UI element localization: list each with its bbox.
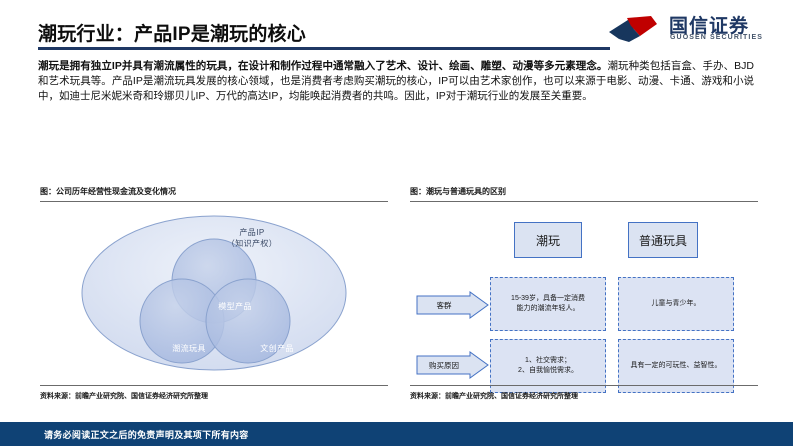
panel-right-rule-bottom	[410, 385, 758, 386]
panel-right-caption: 图：潮玩与普通玩具的区别	[410, 186, 506, 197]
venn-diagram-svg	[40, 203, 388, 383]
guosen-logo-icon	[607, 12, 663, 44]
panel-left-caption: 图：公司历年经营性现金流及变化情况	[40, 186, 176, 197]
cell-normal-audience: 儿童与青少年。	[618, 277, 734, 331]
column-header-trendy-toys: 潮玩	[514, 222, 582, 258]
panel-right-source: 资料来源：前瞻产业研究院、国信证券经济研究所整理	[410, 391, 578, 401]
page-title: 潮玩行业：产品IP是潮玩的核心	[38, 19, 306, 46]
panel-right-rule-top	[410, 201, 758, 202]
panel-left-rule-top	[40, 201, 388, 202]
slide-header: 潮玩行业：产品IP是潮玩的核心 国信证券 GUOSEN SECURITIES	[0, 0, 793, 54]
venn-circle-culture	[206, 279, 290, 363]
panel-trendy-vs-normal-toys: 图：潮玩与普通玩具的区别 潮玩 普通玩具 客群 购买原因 15-39岁，具备一定…	[410, 186, 758, 408]
intro-paragraph: 潮玩是拥有独立IP并具有潮流属性的玩具，在设计和制作过程中通常融入了艺术、设计、…	[38, 59, 754, 105]
venn-diagram: 产品IP （知识产权） 模型产品 潮流玩具 文创产品	[40, 203, 388, 383]
footer-disclaimer-text: 请务必阅读正文之后的免责声明及其项下所有内容	[44, 428, 249, 441]
panel-left-source: 资料来源：前瞻产业研究院、国信证券经济研究所整理	[40, 391, 208, 401]
panel-left-rule-bottom	[40, 385, 388, 386]
row-arrow-audience: 客群	[416, 291, 490, 319]
cell-trendy-audience: 15-39岁，具备一定消费 能力的潮流年轻人。	[490, 277, 606, 331]
row-arrow-purchase-reason: 购买原因	[416, 351, 490, 379]
footer-bar: 请务必阅读正文之后的免责声明及其项下所有内容	[0, 422, 793, 446]
column-header-normal-toys: 普通玩具	[628, 222, 698, 258]
brand-logo: 国信证券 GUOSEN SECURITIES	[607, 10, 777, 48]
title-underline-rule	[38, 47, 610, 50]
brand-name-en: GUOSEN SECURITIES	[670, 34, 763, 41]
panel-product-ip-venn: 图：公司历年经营性现金流及变化情况 产品IP （知识产权） 模型产品	[40, 186, 388, 408]
comparison-diagram: 潮玩 普通玩具 客群 购买原因 15-39岁，具备一定消费 能力的潮流年轻人。 …	[410, 203, 758, 383]
row-arrow-audience-label: 客群	[416, 291, 472, 319]
intro-lead-sentence: 潮玩是拥有独立IP并具有潮流属性的玩具，在设计和制作过程中通常融入了艺术、设计、…	[38, 60, 607, 72]
row-arrow-purchase-reason-label: 购买原因	[416, 351, 472, 379]
